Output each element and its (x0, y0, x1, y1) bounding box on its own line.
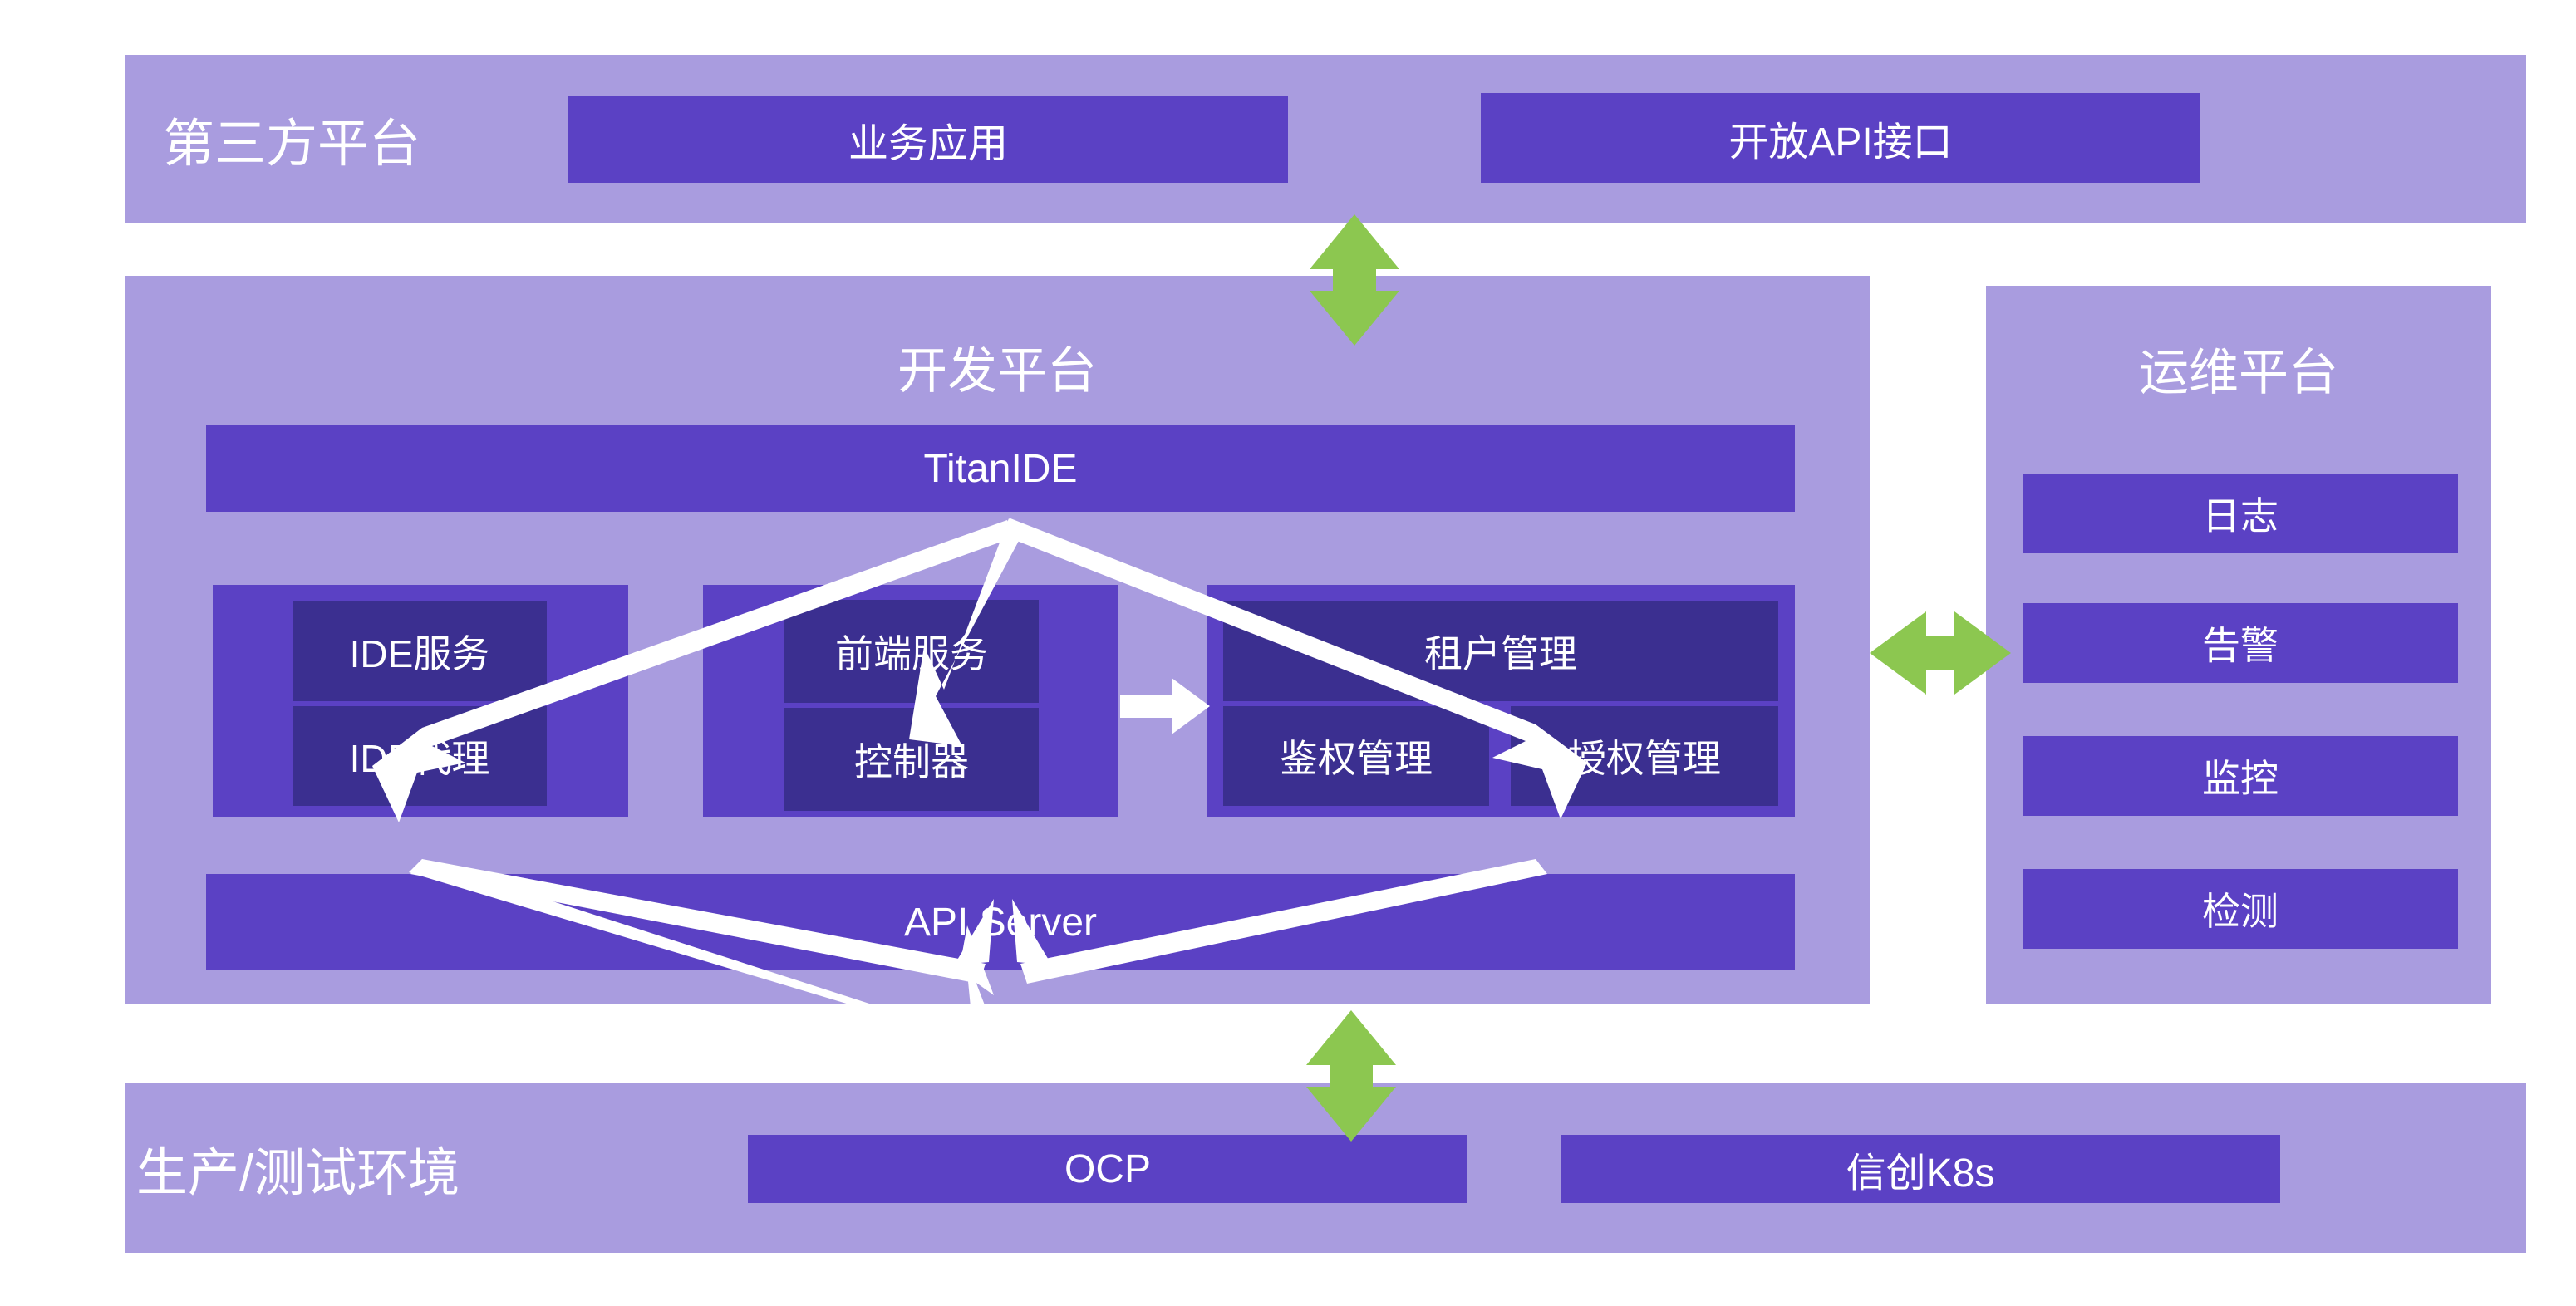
xinchuang-k8s-box[interactable]: 信创K8s (1561, 1135, 2280, 1203)
dev-platform-title: 开发平台 (125, 331, 1870, 403)
ide-agent-box[interactable]: IDE代理 (293, 706, 547, 806)
ocp-box[interactable]: OCP (748, 1135, 1467, 1203)
api-server-box[interactable]: API Server (206, 874, 1795, 970)
ops-item-log-box[interactable]: 日志 (2023, 474, 2458, 553)
ops-platform-title: 运维平台 (1986, 332, 2491, 405)
authentication-management-box[interactable]: 鉴权管理 (1223, 706, 1489, 806)
controller-box[interactable]: 控制器 (784, 708, 1039, 811)
business-application-box[interactable]: 业务应用 (568, 96, 1288, 183)
ide-service-box[interactable]: IDE服务 (293, 601, 547, 701)
environment-label: 生产/测试环境 (136, 1083, 651, 1253)
architecture-diagram: 第三方平台 业务应用 开放API接口 开发平台 TitanIDE IDE服务 I… (0, 0, 2576, 1306)
ops-item-detection-box[interactable]: 检测 (2023, 869, 2458, 949)
ops-item-alert-box[interactable]: 告警 (2023, 603, 2458, 683)
tenant-management-box[interactable]: 租户管理 (1223, 601, 1778, 701)
open-api-interface-box[interactable]: 开放API接口 (1481, 93, 2200, 183)
third-party-platform-label: 第三方平台 (163, 55, 545, 223)
titanide-box[interactable]: TitanIDE (206, 425, 1795, 512)
frontend-service-box[interactable]: 前端服务 (784, 600, 1039, 703)
authorization-management-box[interactable]: 授权管理 (1511, 706, 1778, 806)
ops-item-monitor-box[interactable]: 监控 (2023, 736, 2458, 816)
